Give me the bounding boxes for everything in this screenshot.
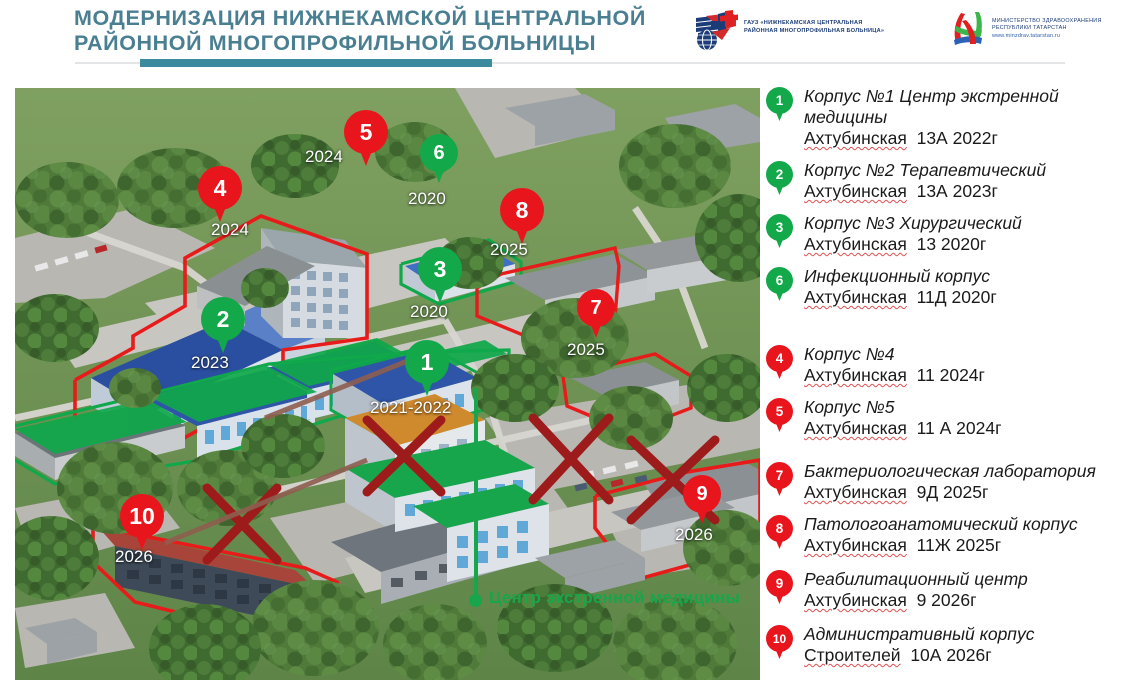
legend-name-10: Административный корпус: [804, 624, 1104, 645]
marker-year-2: 2023: [191, 353, 229, 373]
legend-item-4[interactable]: 4Корпус №4Ахтубинская 11 2024г: [766, 344, 1104, 386]
marker-year-9: 2026: [675, 525, 713, 545]
legend-street-2: Ахтубинская: [804, 181, 907, 201]
legend-item-10[interactable]: 10Административный корпусСтроителей 10А …: [766, 624, 1104, 666]
legend-address-3: Ахтубинская 13 2020г: [804, 234, 1104, 255]
legend-item-5[interactable]: 5Корпус №5Ахтубинская 11 А 2024г: [766, 397, 1104, 439]
legend-pin-7: 7: [766, 462, 793, 496]
legend-pin-number-7: 7: [766, 462, 793, 489]
legend-item-7[interactable]: 7Бактериологическая лабораторияАхтубинск…: [766, 461, 1104, 503]
legend-name-1: Корпус №1 Центр экстренноймедицины: [804, 86, 1104, 128]
marker-year-5: 2024: [305, 147, 343, 167]
map-marker-3[interactable]: 3: [418, 247, 462, 303]
map-marker-5[interactable]: 5: [344, 110, 388, 166]
legend-pin-1: 1: [766, 87, 793, 121]
legend-street-4: Ахтубинская: [804, 365, 907, 385]
legend-pin-number-8: 8: [766, 515, 793, 542]
map-marker-2[interactable]: 2: [201, 297, 245, 353]
legend-street-1: Ахтубинская: [804, 128, 907, 148]
legend-address-1: Ахтубинская 13А 2022г: [804, 128, 1104, 149]
legend-item-8[interactable]: 8Патологоанатомический корпусАхтубинская…: [766, 514, 1104, 556]
legend-item-1[interactable]: 1Корпус №1 Центр экстренноймедициныАхтуб…: [766, 86, 1104, 149]
ministry-logo-line-1: МИНИСТЕРСТВО ЗДРАВООХРАНЕНИЯ: [992, 18, 1125, 25]
map-marker-4[interactable]: 4: [198, 166, 242, 222]
legend-street-8: Ахтубинская: [804, 535, 907, 555]
legend-item-9[interactable]: 9Реабилитационный центрАхтубинская 9 202…: [766, 569, 1104, 611]
header-accent-bar: [140, 59, 492, 67]
map-marker-9[interactable]: 9: [683, 475, 721, 524]
center-callout-line: [474, 388, 478, 600]
marker-number-1: 1: [405, 340, 449, 384]
ministry-logo-url: www.minzdrav.tatarstan.ru: [992, 33, 1125, 40]
hospital-logo: ГАУЗ «НИЖНЕКАМСКАЯ ЦЕНТРАЛЬНАЯ РАЙОННАЯ …: [692, 8, 922, 54]
legend-item-3[interactable]: 3Корпус №3 ХирургическийАхтубинская 13 2…: [766, 213, 1104, 255]
legend-pin-9: 9: [766, 570, 793, 604]
marker-number-7: 7: [577, 289, 615, 327]
legend-name-9: Реабилитационный центр: [804, 569, 1104, 590]
legend-address-6: Ахтубинская 11Д 2020г: [804, 287, 1104, 308]
legend-item-2[interactable]: 2Корпус №2 ТерапевтическийАхтубинская 13…: [766, 160, 1104, 202]
legend-pin-number-5: 5: [766, 398, 793, 425]
legend-name-5: Корпус №5: [804, 397, 1104, 418]
marker-number-4: 4: [198, 166, 242, 210]
page-title: МОДЕРНИЗАЦИЯ НИЖНЕКАМСКОЙ ЦЕНТРАЛЬНОЙ РА…: [74, 6, 694, 56]
ministry-logo-icon: [948, 10, 988, 50]
legend-address-4: Ахтубинская 11 2024г: [804, 365, 1104, 386]
map-marker-6[interactable]: 6: [420, 134, 458, 183]
legend-name-6: Инфекционный корпус: [804, 266, 1104, 287]
title-line-1: МОДЕРНИЗАЦИЯ НИЖНЕКАМСКОЙ ЦЕНТРАЛЬНОЙ: [74, 6, 694, 31]
map-marker-10[interactable]: 10: [120, 494, 164, 550]
legend-pin-number-9: 9: [766, 570, 793, 597]
map-marker-7[interactable]: 7: [577, 289, 615, 338]
legend-pin-10: 10: [766, 625, 793, 659]
legend-address-7: Ахтубинская 9Д 2025г: [804, 482, 1104, 503]
legend-street-10: Строителей: [804, 645, 901, 665]
legend-address-9: Ахтубинская 9 2026г: [804, 590, 1104, 611]
legend-pin-number-4: 4: [766, 345, 793, 372]
legend-name-3: Корпус №3 Хирургический: [804, 213, 1104, 234]
marker-number-5: 5: [344, 110, 388, 154]
center-callout-dot: [469, 594, 482, 607]
legend-name-8: Патологоанатомический корпус: [804, 514, 1104, 535]
hospital-logo-text: ГАУЗ «НИЖНЕКАМСКАЯ ЦЕНТРАЛЬНАЯ РАЙОННАЯ …: [744, 20, 924, 35]
legend-name-7: Бактериологическая лаборатория: [804, 461, 1104, 482]
title-line-2: РАЙОННОЙ МНОГОПРОФИЛЬНОЙ БОЛЬНИЦЫ: [74, 31, 694, 56]
marker-year-7: 2025: [567, 340, 605, 360]
map-marker-8[interactable]: 8: [500, 188, 544, 244]
legend-pin-6: 6: [766, 267, 793, 301]
legend-address-5: Ахтубинская 11 А 2024г: [804, 418, 1104, 439]
hospital-logo-line-1: ГАУЗ «НИЖНЕКАМСКАЯ ЦЕНТРАЛЬНАЯ: [744, 20, 924, 28]
legend-address-2: Ахтубинская 13А 2023г: [804, 181, 1104, 202]
legend-street-5: Ахтубинская: [804, 418, 907, 438]
aerial-site-map[interactable]: Центр экстренной медицины 12021-20222202…: [15, 88, 760, 680]
map-marker-1[interactable]: 1: [405, 340, 449, 396]
hospital-logo-line-2: РАЙОННАЯ МНОГОПРОФИЛЬНАЯ БОЛЬНИЦА»: [744, 28, 924, 36]
legend-pin-8: 8: [766, 515, 793, 549]
marker-number-10: 10: [120, 494, 164, 538]
legend-street-6: Ахтубинская: [804, 287, 907, 307]
ministry-logo-line-2: РЕСПУБЛИКИ ТАТАРСТАН: [992, 25, 1125, 32]
center-callout-label: Центр экстренной медицины: [489, 588, 740, 608]
marker-year-8: 2025: [490, 240, 528, 260]
legend-street-3: Ахтубинская: [804, 234, 907, 254]
legend-panel: 1Корпус №1 Центр экстренноймедициныАхтуб…: [766, 86, 1116, 680]
marker-number-3: 3: [418, 247, 462, 291]
legend-pin-number-6: 6: [766, 267, 793, 294]
legend-pin-2: 2: [766, 161, 793, 195]
ministry-logo-text: МИНИСТЕРСТВО ЗДРАВООХРАНЕНИЯ РЕСПУБЛИКИ …: [992, 18, 1125, 40]
slide-root: МОДЕРНИЗАЦИЯ НИЖНЕКАМСКОЙ ЦЕНТРАЛЬНОЙ РА…: [0, 0, 1125, 680]
legend-pin-number-10: 10: [766, 625, 793, 652]
legend-pin-number-3: 3: [766, 214, 793, 241]
slide-header: МОДЕРНИЗАЦИЯ НИЖНЕКАМСКОЙ ЦЕНТРАЛЬНОЙ РА…: [0, 0, 1125, 72]
legend-address-10: Строителей 10А 2026г: [804, 645, 1104, 666]
marker-year-1: 2021-2022: [370, 398, 451, 418]
marker-number-8: 8: [500, 188, 544, 232]
legend-street-9: Ахтубинская: [804, 590, 907, 610]
legend-pin-4: 4: [766, 345, 793, 379]
hospital-logo-icon: [692, 10, 740, 52]
marker-number-2: 2: [201, 297, 245, 341]
legend-name-2: Корпус №2 Терапевтический: [804, 160, 1104, 181]
marker-year-10: 2026: [115, 547, 153, 567]
marker-year-4: 2024: [211, 220, 249, 240]
marker-number-9: 9: [683, 475, 721, 513]
legend-pin-number-2: 2: [766, 161, 793, 188]
marker-year-6: 2020: [408, 189, 446, 209]
legend-name-4: Корпус №4: [804, 344, 1104, 365]
legend-pin-5: 5: [766, 398, 793, 432]
legend-pin-number-1: 1: [766, 87, 793, 114]
legend-address-8: Ахтубинская 11Ж 2025г: [804, 535, 1104, 556]
ministry-logo: МИНИСТЕРСТВО ЗДРАВООХРАНЕНИЯ РЕСПУБЛИКИ …: [948, 8, 1125, 54]
marker-year-3: 2020: [410, 302, 448, 322]
marker-number-6: 6: [420, 134, 458, 172]
legend-pin-3: 3: [766, 214, 793, 248]
legend-item-6[interactable]: 6Инфекционный корпусАхтубинская 11Д 2020…: [766, 266, 1104, 308]
legend-street-7: Ахтубинская: [804, 482, 907, 502]
